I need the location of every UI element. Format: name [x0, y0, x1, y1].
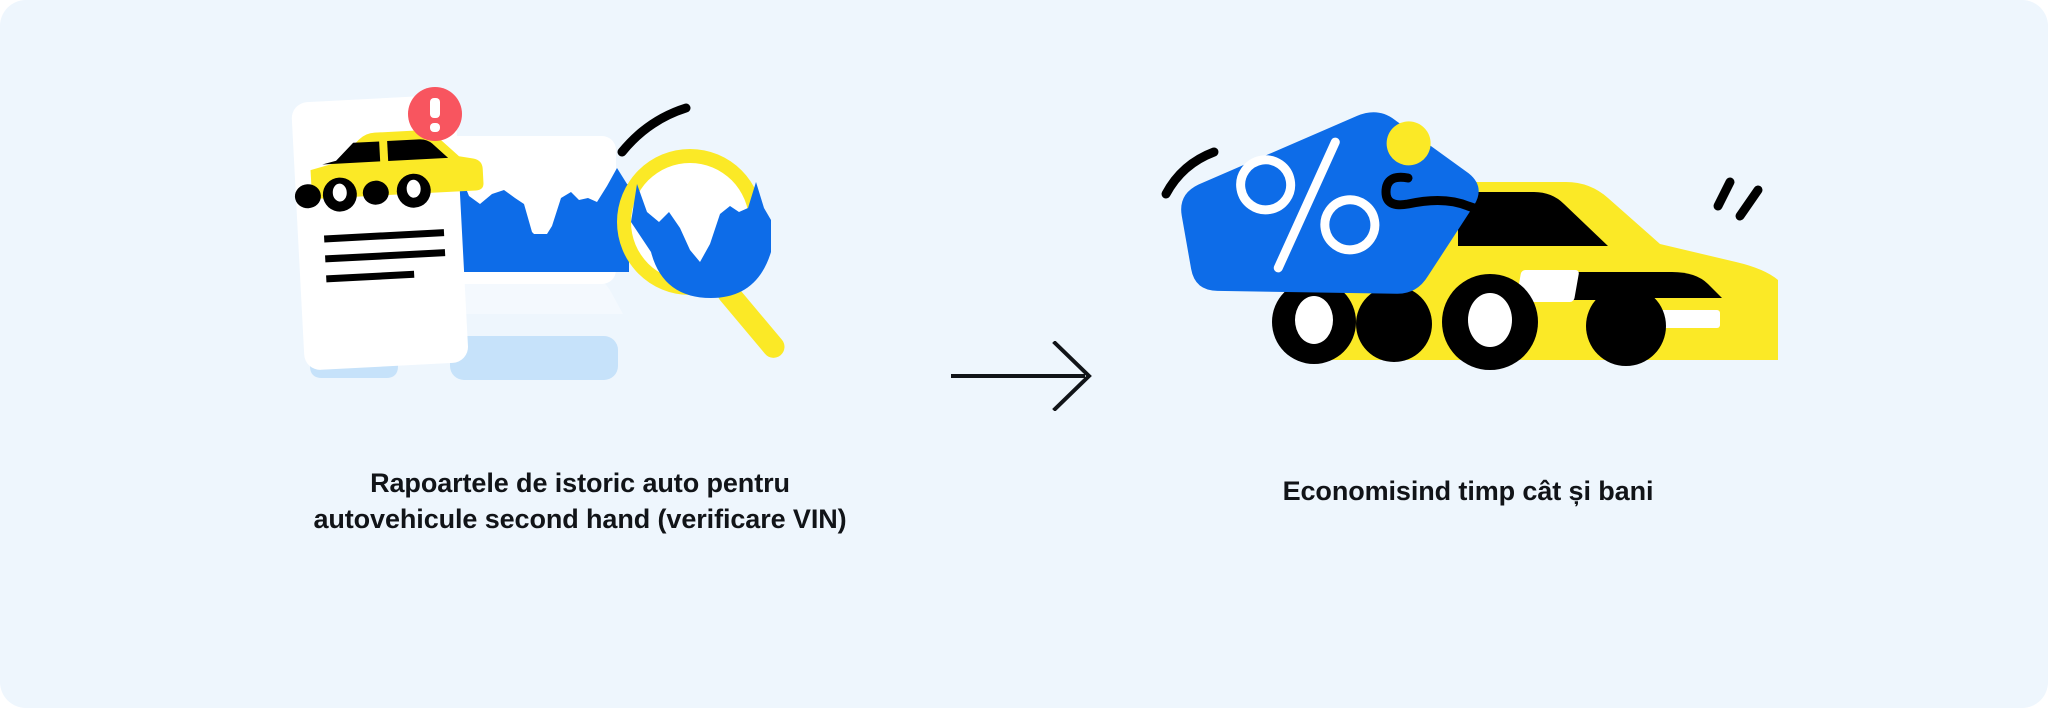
right-caption-line-1: Economisind timp cât și bani — [1283, 474, 1654, 510]
motion-arc-icon — [622, 108, 686, 152]
savings-illustration — [1158, 74, 1778, 444]
right-caption: Economisind timp cât și bani — [1283, 474, 1654, 510]
promo-banner: Rapoartele de istoric auto pentru autove… — [0, 0, 2048, 708]
banner-stage: Rapoartele de istoric auto pentru autove… — [0, 0, 2048, 708]
yellow-magnifying-glass — [617, 149, 789, 362]
arrow-right-icon — [949, 341, 1099, 411]
left-caption-line-1: Rapoartele de istoric auto pentru — [313, 466, 846, 502]
vin-report-illustration — [270, 74, 890, 444]
left-caption-line-2: autovehicule second hand (verificare VIN… — [313, 502, 846, 538]
speed-lines-icon — [1718, 182, 1758, 216]
right-panel: Economisind timp cât și bani — [1148, 74, 1788, 634]
left-panel: Rapoartele de istoric auto pentru autove… — [260, 74, 900, 634]
left-caption: Rapoartele de istoric auto pentru autove… — [313, 466, 846, 538]
red-alert-exclamation-badge — [408, 87, 462, 141]
transition-arrow — [904, 74, 1144, 634]
